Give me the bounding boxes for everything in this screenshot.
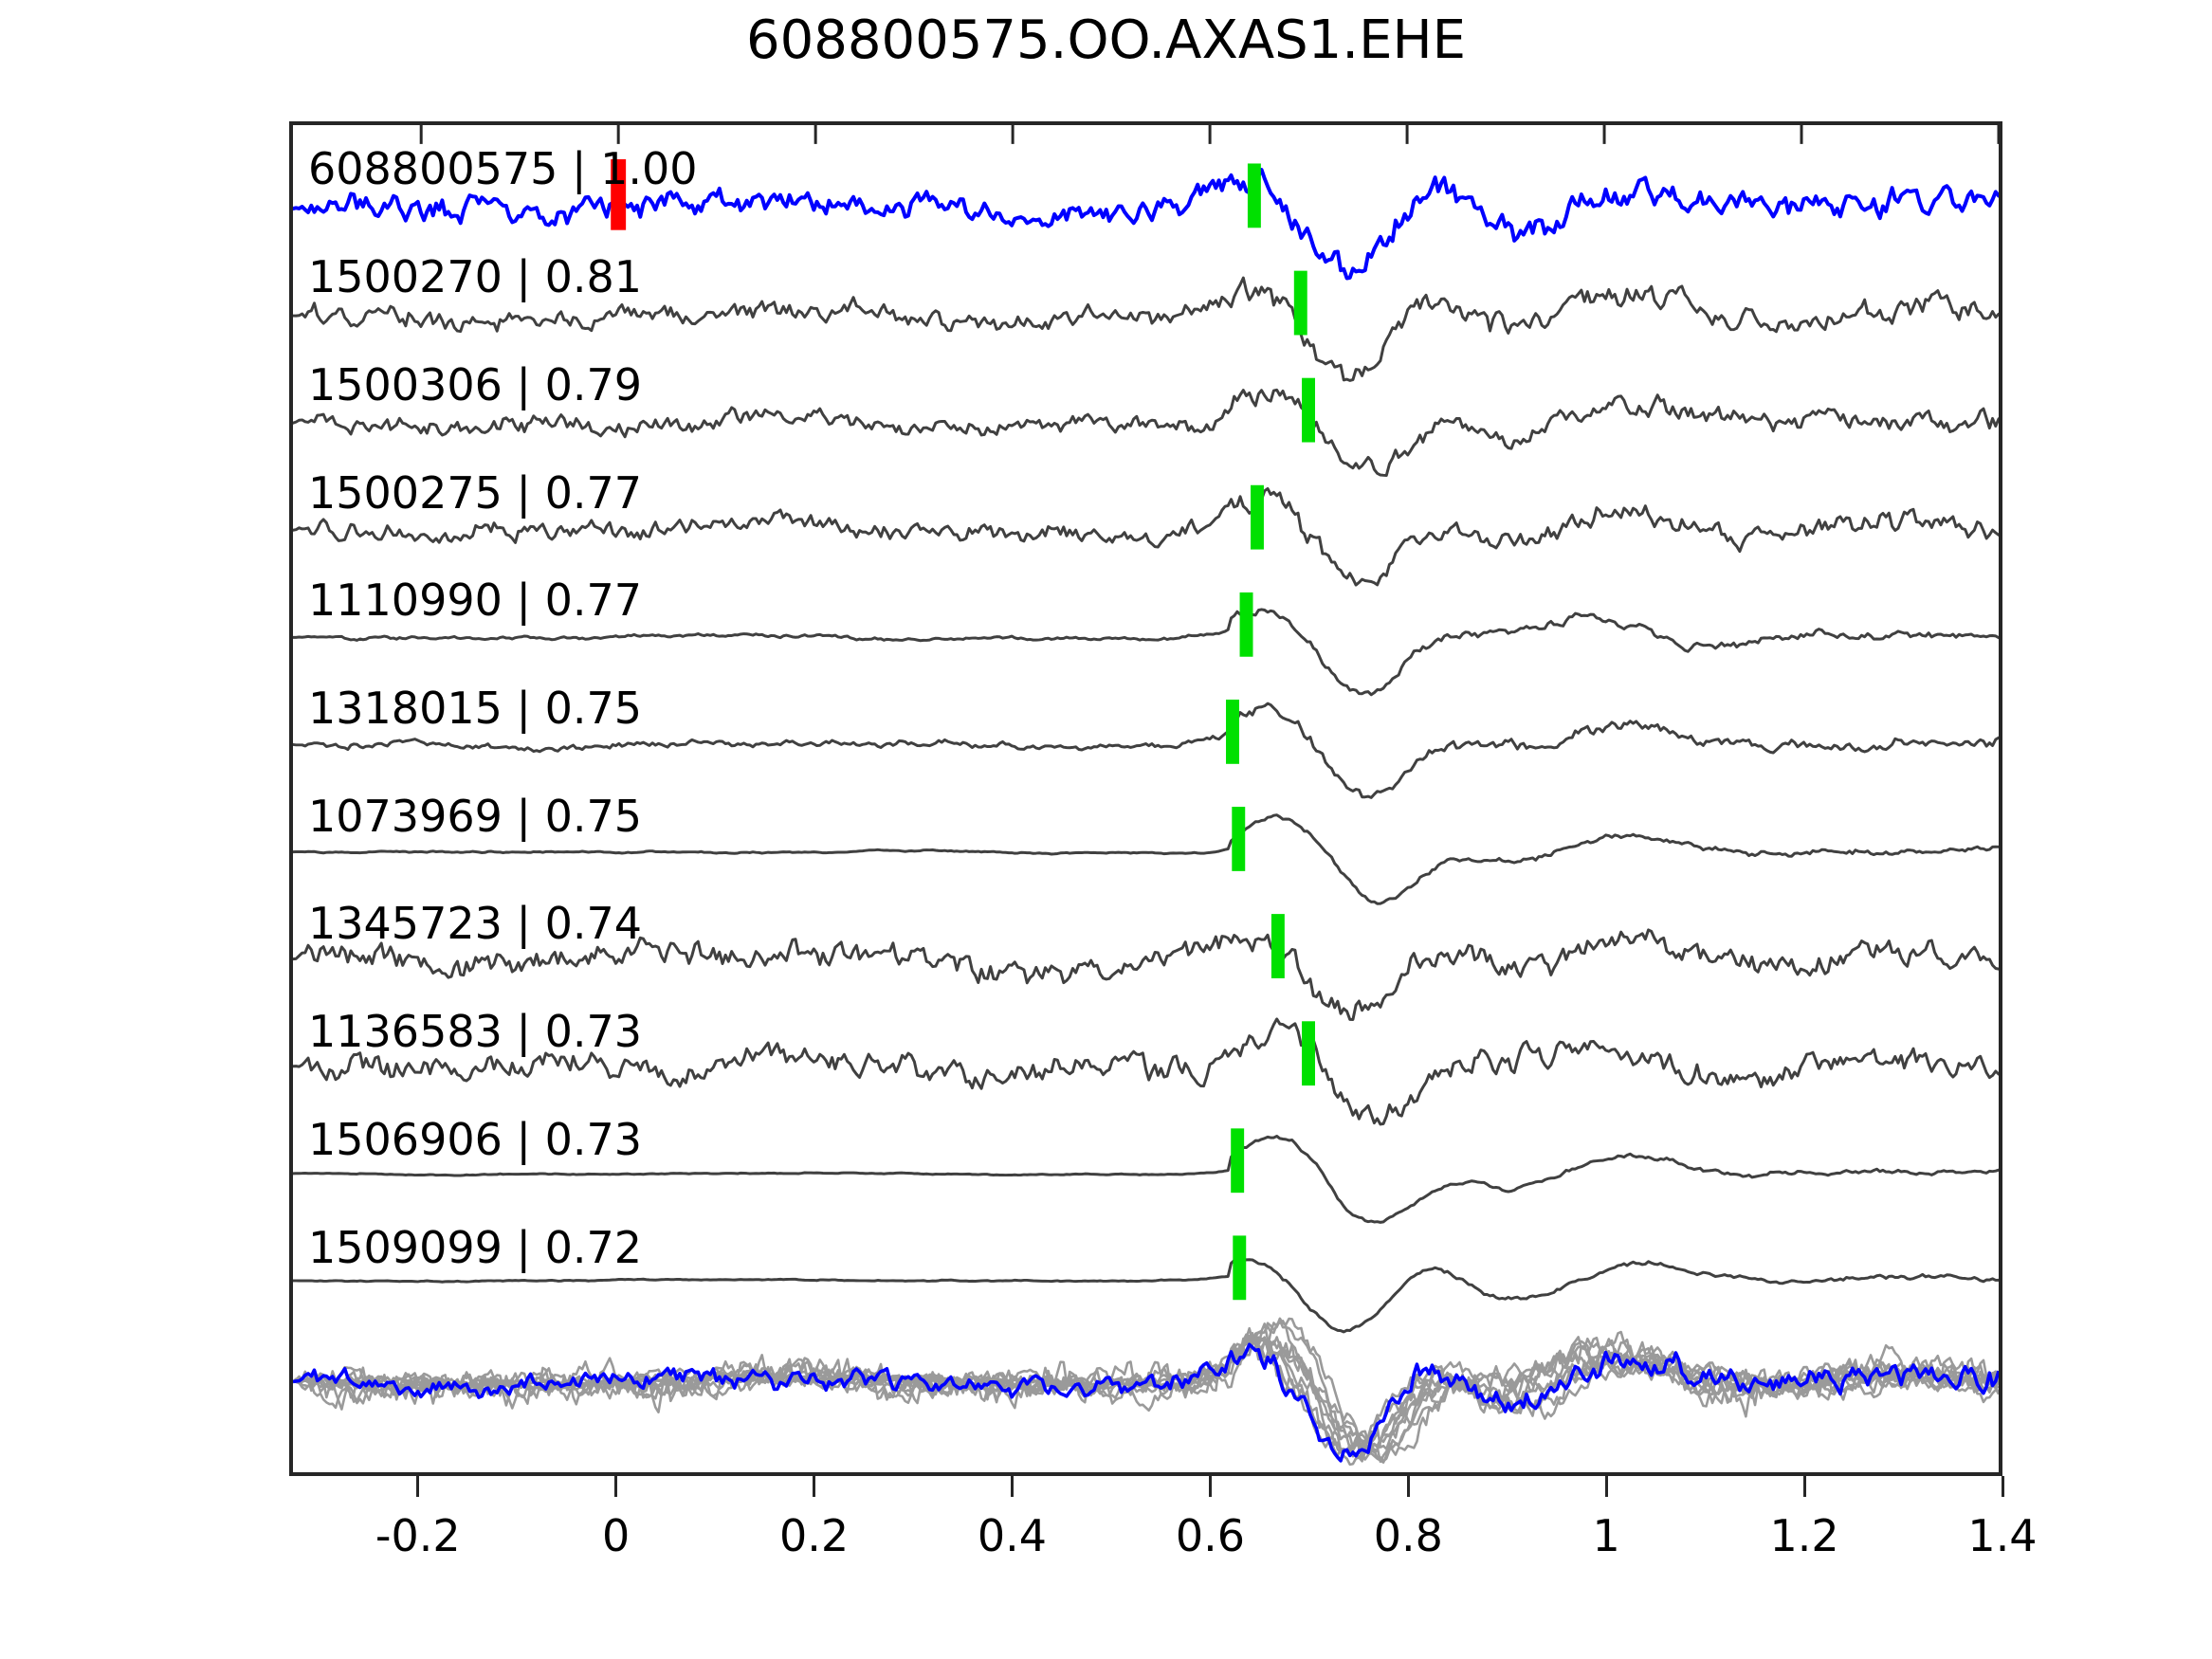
x-tick-mark-top <box>814 125 817 144</box>
x-tick-mark <box>1407 1476 1410 1497</box>
x-tick-mark-top <box>617 125 620 144</box>
x-tick-mark-top <box>1406 125 1409 144</box>
stack-overlay-trace <box>293 1328 1999 1465</box>
waveform-trace <box>293 170 1999 278</box>
x-tick-mark-top <box>420 125 423 144</box>
x-tick-mark-top <box>1209 125 1212 144</box>
x-tick-label: 0.6 <box>1176 1510 1245 1561</box>
x-tick-mark-top <box>1998 125 1999 144</box>
x-tick-mark <box>813 1476 815 1497</box>
detection-pick-marker <box>1226 700 1239 764</box>
page-title: 608800575.OO.AXAS1.EHE <box>0 9 2212 71</box>
plot-area: 608800575 | 1.001500270 | 0.811500306 | … <box>289 121 2002 1476</box>
x-tick-mark-top <box>1603 125 1606 144</box>
detection-pick-marker <box>1233 1235 1246 1300</box>
stack-overlay-trace <box>293 1341 1999 1456</box>
seismic-waveform-figure: 608800575.OO.AXAS1.EHE 608800575 | 1.001… <box>0 0 2212 1659</box>
x-tick-mark <box>1011 1476 1014 1497</box>
detection-pick-marker <box>1294 271 1307 336</box>
x-tick-label: 0.2 <box>779 1510 849 1561</box>
reference-pick-marker <box>611 159 626 230</box>
detection-pick-marker <box>1302 378 1315 443</box>
waveform-trace <box>293 1260 1999 1332</box>
stack-overlay-trace <box>293 1338 1999 1462</box>
detection-pick-marker <box>1240 592 1253 657</box>
x-tick-mark <box>1803 1476 1806 1497</box>
waveform-canvas <box>293 125 1999 1472</box>
x-tick-label: 0 <box>602 1510 630 1561</box>
x-tick-mark <box>2002 1476 2004 1497</box>
x-tick-mark <box>614 1476 617 1497</box>
waveform-trace <box>293 610 1999 695</box>
x-axis: -0.200.20.40.60.811.21.4 <box>289 1476 2002 1571</box>
x-tick-mark <box>1209 1476 1212 1497</box>
detection-pick-marker <box>1248 163 1261 228</box>
waveform-trace <box>293 930 1999 1020</box>
detection-pick-marker <box>1232 807 1245 871</box>
stack-template-trace <box>293 1344 1999 1461</box>
x-tick-mark-top <box>1801 125 1803 144</box>
waveform-trace <box>293 703 1999 797</box>
x-tick-mark-top <box>1012 125 1015 144</box>
x-tick-mark <box>416 1476 419 1497</box>
detection-pick-marker <box>1302 1021 1315 1085</box>
waveform-trace <box>293 278 1999 380</box>
x-tick-label: -0.2 <box>375 1510 461 1561</box>
x-tick-label: 0.8 <box>1374 1510 1443 1561</box>
x-tick-label: 1.2 <box>1770 1510 1839 1561</box>
x-tick-mark <box>1605 1476 1608 1497</box>
x-tick-label: 0.4 <box>978 1510 1047 1561</box>
detection-pick-marker <box>1251 485 1264 550</box>
waveform-trace <box>293 488 1999 585</box>
detection-pick-marker <box>1271 914 1285 978</box>
detection-pick-marker <box>1231 1128 1244 1193</box>
waveform-trace <box>293 1019 1999 1124</box>
x-tick-label: 1 <box>1593 1510 1620 1561</box>
x-tick-label: 1.4 <box>1967 1510 2037 1561</box>
waveform-trace <box>293 390 1999 475</box>
waveform-trace <box>293 815 1999 904</box>
waveform-trace <box>293 1136 1999 1222</box>
